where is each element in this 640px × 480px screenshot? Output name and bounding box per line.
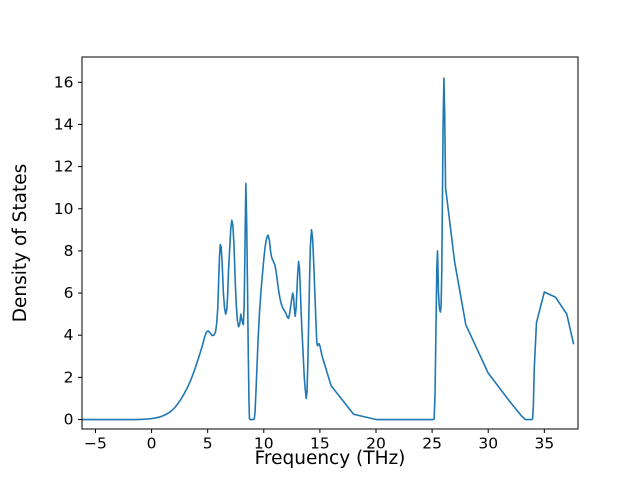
y-tick-label: 6 bbox=[64, 284, 74, 302]
x-tick-label: 30 bbox=[478, 435, 498, 453]
y-tick-label: 2 bbox=[64, 368, 74, 386]
x-tick-label: 25 bbox=[422, 435, 442, 453]
plot-background bbox=[0, 0, 640, 480]
y-tick-label: 8 bbox=[64, 242, 74, 260]
y-tick-label: 12 bbox=[54, 158, 74, 176]
x-tick-label: −5 bbox=[84, 435, 107, 453]
y-axis-label: Density of States bbox=[10, 164, 31, 323]
y-tick-label: 10 bbox=[54, 200, 74, 218]
y-tick-label: 14 bbox=[54, 115, 74, 133]
y-tick-label: 0 bbox=[64, 411, 74, 429]
y-tick-label: 16 bbox=[54, 73, 74, 91]
x-tick-label: 5 bbox=[203, 435, 213, 453]
dos-plot: −505101520253035 0246810121416 Frequency… bbox=[0, 0, 640, 480]
y-tick-label: 4 bbox=[64, 326, 74, 344]
figure-canvas: −505101520253035 0246810121416 Frequency… bbox=[0, 0, 640, 480]
x-tick-label: 35 bbox=[534, 435, 554, 453]
x-axis-label: Frequency (THz) bbox=[255, 448, 406, 469]
x-tick-label: 0 bbox=[147, 435, 157, 453]
